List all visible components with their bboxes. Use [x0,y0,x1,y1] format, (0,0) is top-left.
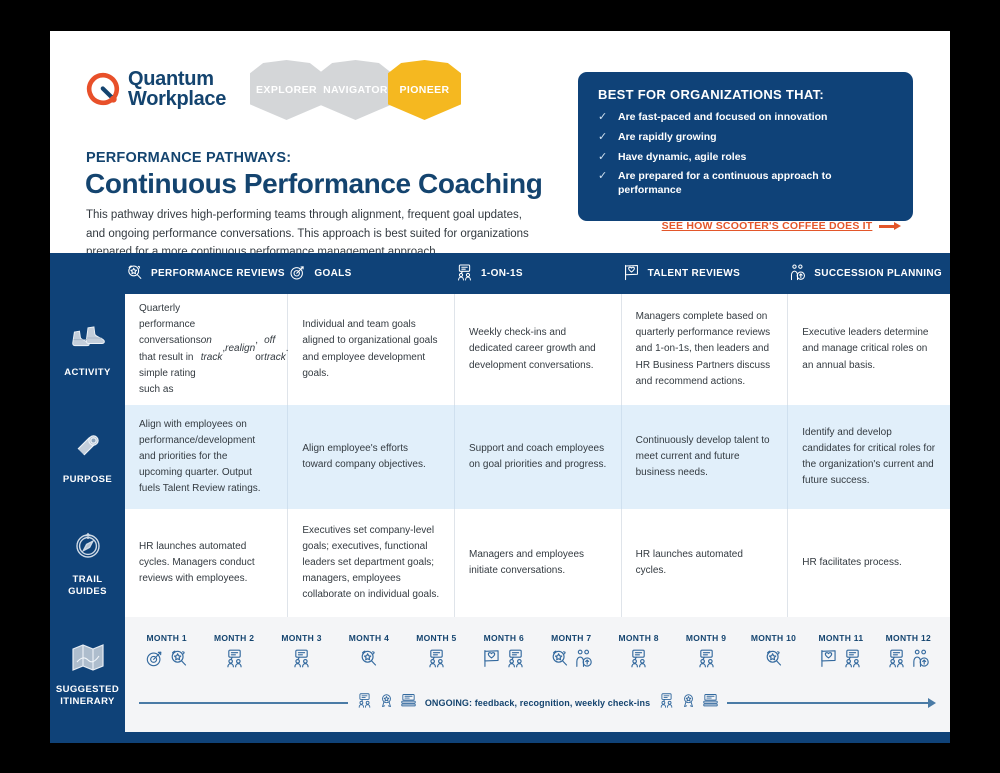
check-icon: ✓ [598,111,608,125]
one-on-one-people-chat-icon [455,263,474,285]
one-on-one-people-chat-icon [658,692,675,714]
page-title: Continuous Performance Coaching [85,168,542,200]
feedback-cards-icon [702,692,719,714]
badge-label: PIONEER [399,84,449,96]
row-cells: Align with employees on performance/deve… [125,405,950,509]
column-header-label: 1-ON-1S [481,268,523,279]
row-label: ACTIVITY [64,367,110,379]
one-on-one-people-chat-icon [224,648,245,674]
goal-target-arrow-icon [288,263,307,285]
performance-review-star-magnifier-icon [763,648,784,674]
table-cell: Support and coach employees on goal prio… [455,405,622,509]
arrow-right-icon [879,221,901,231]
table-cell: HR launches automated cycles. Managers c… [125,509,288,617]
one-on-one-people-chat-icon [356,692,373,714]
callout-item: ✓Are fast-paced and focused on innovatio… [598,111,893,125]
month-item: MONTH 4 [335,633,402,676]
infographic-page: Quantum Workplace EXPLORERNAVIGATORPIONE… [50,31,950,743]
month-label: MONTH 5 [416,633,456,643]
column-header-label: PERFORMANCE REVIEWS [151,268,285,279]
table-header-row: PERFORMANCE REVIEWSGOALS1-ON-1STALENT RE… [50,253,950,294]
month-label: MONTH 8 [618,633,658,643]
check-icon: ✓ [598,170,608,184]
compass-icon [71,528,105,567]
badge-navigator[interactable]: NAVIGATOR [319,60,392,120]
column-header-label: GOALS [314,268,351,279]
table-row: TRAIL GUIDESHR launches automated cycles… [50,509,950,617]
one-on-one-people-chat-icon [426,648,447,674]
header-section: Quantum Workplace EXPLORERNAVIGATORPIONE… [50,31,950,253]
callout-item-label: Are prepared for a continuous approach t… [618,170,893,197]
month-label: MONTH 4 [349,633,389,643]
table-row-itinerary: SUGGESTED ITINERARY MONTH 1MONTH 2MONTH … [50,617,950,732]
month-icons [224,646,245,676]
callout-list: ✓Are fast-paced and focused on innovatio… [598,111,893,198]
cta-label: SEE HOW SCOOTER'S COFFEE DOES IT [662,220,873,232]
talent-review-flag-heart-icon [818,648,839,674]
month-icons [549,646,594,676]
row-label: TRAIL GUIDES [54,574,121,598]
table-cell: Quarterly performance conversations that… [125,294,288,405]
one-on-one-people-chat-icon [696,648,717,674]
best-for-callout: BEST FOR ORGANIZATIONS THAT: ✓Are fast-p… [578,72,913,221]
month-icons [144,646,189,676]
column-header-label: SUCCESSION PLANNING [814,268,942,279]
one-on-one-people-chat-icon [886,648,907,674]
row-label-itinerary: SUGGESTED ITINERARY [54,684,121,708]
month-label: MONTH 7 [551,633,591,643]
timeline-line-left [139,702,348,704]
month-icons [291,646,312,676]
month-item: MONTH 5 [403,633,470,676]
recognition-award-icon [378,692,395,714]
brand-name-line1: Quantum [128,69,226,89]
timeline-arrow-head-icon [928,698,936,708]
table-cell: Executive leaders determine and manage c… [788,294,950,405]
table-cell: Identify and develop candidates for crit… [788,405,950,509]
row-cells: HR launches automated cycles. Managers c… [125,509,950,617]
flashlight-icon [71,428,105,467]
column-header-2: GOALS [288,263,455,285]
column-header-5: SUCCESSION PLANNING [788,263,950,285]
table-cell: Managers complete based on quarterly per… [622,294,789,405]
one-on-one-people-chat-icon [291,648,312,674]
hiking-boots-icon [71,321,105,360]
badge-label: NAVIGATOR [323,84,388,96]
table-row: ACTIVITYQuarterly performance conversati… [50,294,950,405]
row-head-trail-guides: TRAIL GUIDES [50,509,125,617]
one-on-one-people-chat-icon [842,648,863,674]
month-label: MONTH 9 [686,633,726,643]
quantum-circle-logo-icon [86,72,120,106]
row-head-purpose: PURPOSE [50,405,125,509]
brand-logo: Quantum Workplace [86,69,226,110]
month-icons [358,646,379,676]
itinerary-cells: MONTH 1MONTH 2MONTH 3MONTH 4MONTH 5MONTH… [125,617,950,732]
table-cell: HR facilitates process. [788,509,950,617]
folded-map-icon [71,642,105,677]
month-list: MONTH 1MONTH 2MONTH 3MONTH 4MONTH 5MONTH… [125,617,950,676]
month-item: MONTH 6 [470,633,537,676]
callout-item: ✓Are rapidly growing [598,131,893,145]
month-icons [426,646,447,676]
table-cell: HR launches automated cycles. [622,509,789,617]
month-item: MONTH 8 [605,633,672,676]
pathway-badges: EXPLORERNAVIGATORPIONEER [250,60,457,120]
succession-planning-people-icon [788,263,807,285]
brand-name-line2: Workplace [128,89,226,109]
table-cell: Executives set company-level goals; exec… [288,509,455,617]
row-head-activity: ACTIVITY [50,294,125,405]
succession-planning-people-icon [573,648,594,674]
callout-item-label: Are fast-paced and focused on innovation [618,111,827,125]
month-item: MONTH 10 [740,633,807,676]
performance-review-star-magnifier-icon [549,648,570,674]
table-cell: Continuously develop talent to meet curr… [622,405,789,509]
recognition-award-icon [680,692,697,714]
month-icons [696,646,717,676]
month-icons [818,646,863,676]
check-icon: ✓ [598,151,608,165]
callout-item-label: Have dynamic, agile roles [618,151,746,165]
badge-explorer[interactable]: EXPLORER [250,60,323,120]
page-eyebrow: PERFORMANCE PATHWAYS: [86,150,291,166]
month-label: MONTH 6 [484,633,524,643]
callout-title: BEST FOR ORGANIZATIONS THAT: [598,87,893,102]
column-header-4: TALENT REVIEWS [622,263,789,285]
table-cell: Individual and team goals aligned to org… [288,294,455,405]
month-icons [886,646,931,676]
month-item: MONTH 3 [268,633,335,676]
month-item: MONTH 9 [672,633,739,676]
table-cell: Weekly check-ins and dedicated career gr… [455,294,622,405]
pathway-table: PERFORMANCE REVIEWSGOALS1-ON-1STALENT RE… [50,253,950,743]
month-label: MONTH 3 [281,633,321,643]
month-item: MONTH 7 [538,633,605,676]
month-icons [481,646,526,676]
month-icons [628,646,649,676]
month-item: MONTH 11 [807,633,874,676]
callout-item: ✓Are prepared for a continuous approach … [598,170,893,197]
ongoing-icons-right [650,692,727,714]
scooters-coffee-link[interactable]: SEE HOW SCOOTER'S COFFEE DOES IT [650,220,913,232]
badge-label: EXPLORER [256,84,317,96]
callout-item: ✓Have dynamic, agile roles [598,151,893,165]
talent-review-flag-heart-icon [622,263,641,285]
month-icons [763,646,784,676]
one-on-one-people-chat-icon [628,648,649,674]
ongoing-timeline: ONGOING: feedback, recognition, weekly c… [125,692,950,714]
brand-name: Quantum Workplace [128,69,226,110]
month-label: MONTH 11 [818,633,863,643]
ongoing-icons-left [348,692,425,714]
performance-review-star-magnifier-icon [125,263,144,285]
column-header-label: TALENT REVIEWS [648,268,741,279]
row-label: PURPOSE [63,474,112,486]
month-label: MONTH 1 [147,633,187,643]
badge-pioneer[interactable]: PIONEER [388,60,461,120]
month-item: MONTH 2 [200,633,267,676]
month-label: MONTH 12 [886,633,931,643]
performance-review-star-magnifier-icon [358,648,379,674]
table-cell: Managers and employees initiate conversa… [455,509,622,617]
row-head-itinerary: SUGGESTED ITINERARY [50,617,125,732]
ongoing-label: ONGOING: feedback, recognition, weekly c… [425,698,650,708]
timeline-line-right [727,702,928,704]
table-cell: Align with employees on performance/deve… [125,405,288,509]
row-cells: Quarterly performance conversations that… [125,294,950,405]
month-item: MONTH 12 [875,633,942,676]
feedback-cards-icon [400,692,417,714]
one-on-one-people-chat-icon [505,648,526,674]
month-label: MONTH 2 [214,633,254,643]
goal-target-arrow-icon [144,648,165,674]
callout-item-label: Are rapidly growing [618,131,717,145]
table-row: PURPOSEAlign with employees on performan… [50,405,950,509]
table-body: ACTIVITYQuarterly performance conversati… [50,294,950,617]
month-item: MONTH 1 [133,633,200,676]
column-header-1: PERFORMANCE REVIEWS [125,263,288,285]
month-label: MONTH 10 [751,633,796,643]
column-header-3: 1-ON-1S [455,263,622,285]
check-icon: ✓ [598,131,608,145]
table-cell: Align employee's efforts toward company … [288,405,455,509]
succession-planning-people-icon [910,648,931,674]
talent-review-flag-heart-icon [481,648,502,674]
performance-review-star-magnifier-icon [168,648,189,674]
timeline-arrow [727,698,936,708]
